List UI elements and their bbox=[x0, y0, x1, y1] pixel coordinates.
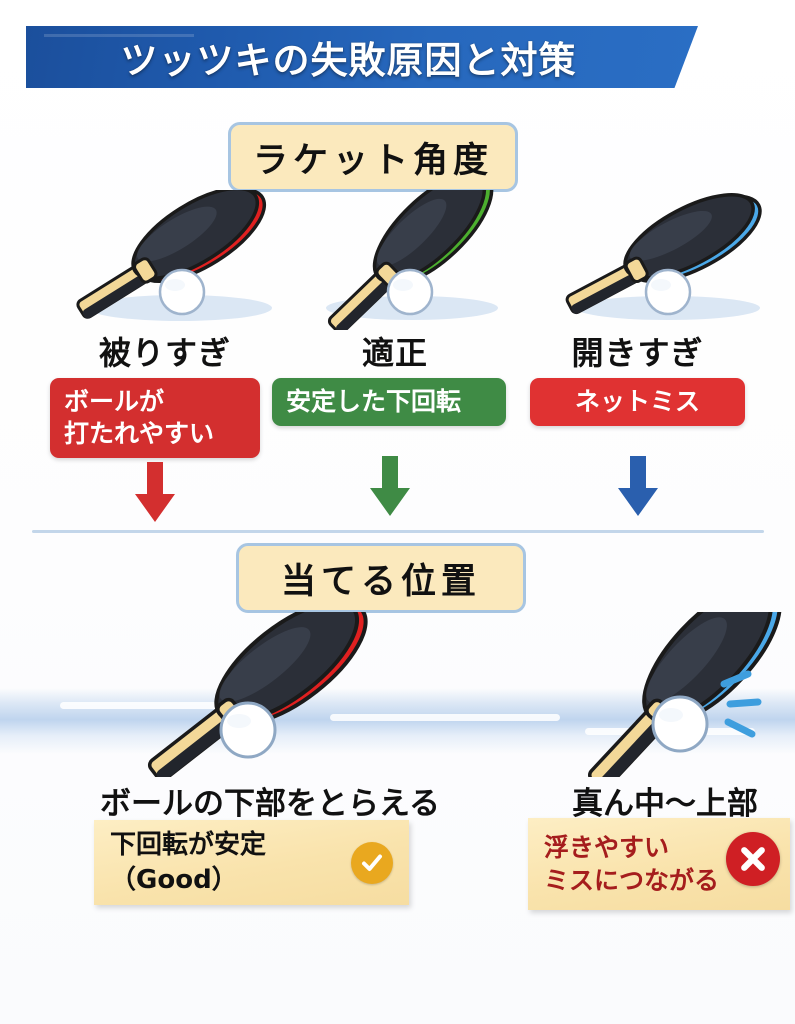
pill-line-2: 打たれやすい bbox=[64, 418, 214, 450]
racket-closed-svg bbox=[30, 190, 290, 330]
racket-mid-contact-svg bbox=[548, 612, 795, 777]
racket-illustration-mid-contact bbox=[548, 612, 795, 777]
impact-lines-icon bbox=[724, 674, 758, 734]
section-chip-racket-angle: ラケット角度 bbox=[228, 122, 518, 192]
consequence-pill-closed: ボールが 打たれやすい bbox=[50, 378, 260, 458]
arrow-down-closed bbox=[133, 462, 177, 524]
ball-highlight bbox=[165, 279, 185, 291]
racket-illustration-closed bbox=[30, 190, 290, 330]
arrow-down-correct bbox=[368, 456, 412, 518]
note-text-group: 浮きやすい ミスにつながる bbox=[544, 831, 719, 898]
racket-illustration-correct bbox=[282, 190, 522, 330]
racket-correct-svg bbox=[282, 190, 522, 330]
note-line-1: 浮きやすい bbox=[544, 831, 719, 865]
pill-line-1: 安定した下回転 bbox=[286, 386, 461, 418]
ball bbox=[646, 270, 690, 314]
racket-illustration-open bbox=[528, 190, 778, 330]
arrow-shape bbox=[370, 456, 410, 516]
consequence-pill-open: ネットミス bbox=[530, 378, 745, 426]
section-chip-contact-point: 当てる位置 bbox=[236, 543, 526, 613]
ball-highlight bbox=[393, 279, 413, 291]
angle-label-open: 開きすぎ bbox=[530, 328, 745, 374]
ball bbox=[653, 697, 707, 751]
racket-illustration-low-contact bbox=[98, 612, 398, 777]
ball bbox=[221, 703, 275, 757]
note-box-good: 下回転が安定 （Good） bbox=[94, 820, 409, 905]
consequence-pill-correct: 安定した下回転 bbox=[272, 378, 506, 426]
ball-highlight bbox=[227, 714, 251, 728]
x-circle-icon bbox=[726, 832, 780, 886]
angle-label-closed: 被りすぎ bbox=[60, 328, 270, 374]
infographic-page: ツッツキの失敗原因と対策 ラケット角度 bbox=[0, 0, 795, 1024]
arrow-shape bbox=[135, 462, 175, 522]
page-title: ツッツキの失敗原因と対策 bbox=[26, 26, 671, 88]
ball bbox=[160, 270, 204, 314]
ball-highlight bbox=[659, 708, 683, 722]
ball bbox=[388, 270, 432, 314]
note-box-bad: 浮きやすい ミスにつながる bbox=[528, 818, 790, 910]
contact-heading-low: ボールの下部をとらえる bbox=[70, 778, 470, 823]
ball-highlight bbox=[651, 279, 671, 291]
racket-low-contact-svg bbox=[98, 612, 398, 777]
arrow-shape bbox=[618, 456, 658, 516]
contact-heading-mid: 真ん中〜上部 bbox=[540, 778, 790, 823]
pill-line-1: ネットミス bbox=[575, 386, 700, 418]
note-text-group: 下回転が安定 （Good） bbox=[110, 828, 266, 898]
racket-open-svg bbox=[528, 190, 778, 330]
note-line-2: ミスにつながる bbox=[544, 864, 719, 898]
note-line-1: 下回転が安定 bbox=[110, 828, 266, 863]
arrow-down-open bbox=[616, 456, 660, 518]
pill-line-1: ボールが bbox=[64, 386, 164, 418]
note-line-2: （Good） bbox=[110, 863, 266, 898]
check-circle-icon bbox=[351, 842, 393, 884]
section-divider bbox=[32, 530, 764, 533]
angle-label-correct: 適正 bbox=[300, 328, 490, 374]
